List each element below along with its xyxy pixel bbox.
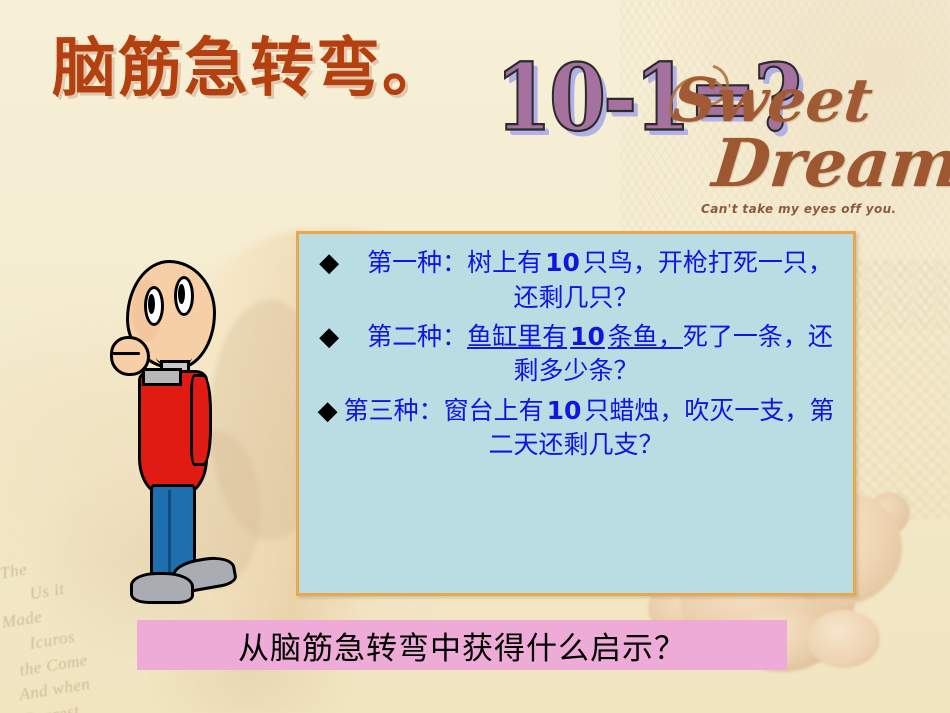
prompt-banner-text: 从脑筋急转弯中获得什么启示？ <box>238 623 686 668</box>
riddle-3-lead: 第三种：窗台上有 <box>344 396 544 425</box>
logo-tagline: Can't take my eyes off you. <box>701 202 897 216</box>
bear-paw <box>808 610 880 668</box>
prompt-banner: 从脑筋急转弯中获得什么启示？ <box>137 620 787 670</box>
cartoon-boy-image <box>82 228 232 618</box>
riddle-2-underlined-lead: 鱼缸里有 <box>467 322 567 351</box>
sweet-dream-logo: Sweet Dream Can't take my eyes off you. <box>665 62 945 222</box>
riddle-2-lead: 第二种： <box>367 322 467 351</box>
riddle-item-1: ◆第一种：树上有10只鸟，开枪打死一只，还剩几只？ <box>309 246 843 314</box>
riddle-3-number: 10 <box>544 396 585 425</box>
boy-shoe-left <box>130 572 194 604</box>
riddle-2-underlined-tail: 条鱼， <box>608 322 683 351</box>
boy-collar <box>142 368 182 386</box>
bullet-diamond-icon: ◆ <box>319 248 339 278</box>
slide-canvas: The Us it Made Icuros the Come And when … <box>0 0 950 713</box>
bullet-diamond-icon: ◆ <box>318 396 338 426</box>
slide-title: 脑筋急转弯。 <box>52 37 448 101</box>
boy-pupil-right <box>178 284 185 304</box>
riddle-1-number: 10 <box>542 248 583 277</box>
riddle-item-3: ◆第三种：窗台上有10只蜡烛，吹灭一支，第二天还剩几支？ <box>309 394 843 462</box>
riddle-item-2: ◆第二种：鱼缸里有10条鱼，死了一条，还剩多少条？ <box>309 320 843 388</box>
boy-pupil-left <box>148 294 155 314</box>
bullet-diamond-icon: ◆ <box>319 322 339 352</box>
riddle-2-number: 10 <box>567 322 608 351</box>
logo-line-dream: Dream <box>709 124 950 202</box>
riddle-1-lead: 第一种：树上有 <box>367 248 542 277</box>
boy-finger <box>112 352 140 355</box>
riddle-content-box: ◆第一种：树上有10只鸟，开枪打死一只，还剩几只？ ◆第二种：鱼缸里有10条鱼，… <box>296 231 856 596</box>
boy-arm-right <box>190 374 212 466</box>
boy-jeans-seam <box>168 490 171 574</box>
